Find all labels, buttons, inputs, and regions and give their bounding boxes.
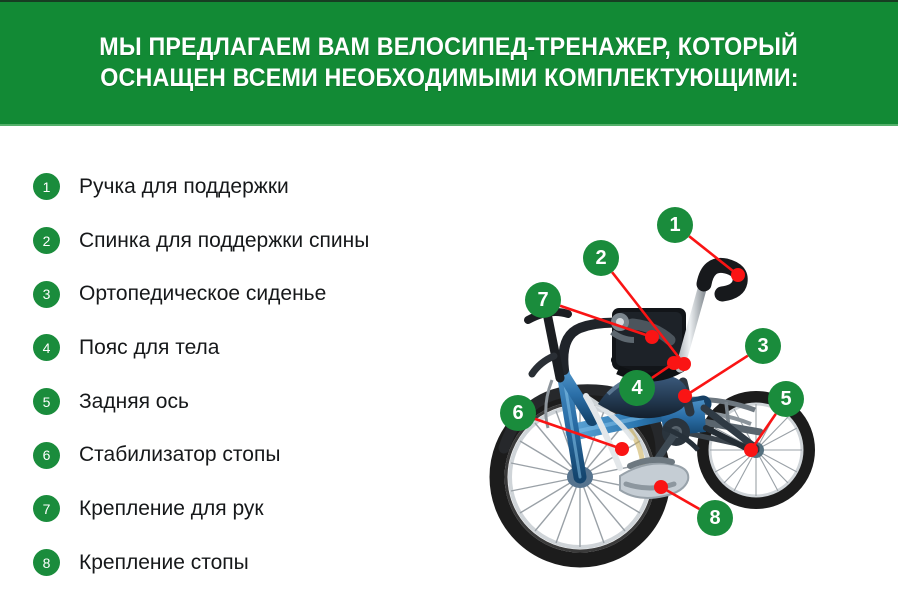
callout-badge-4[interactable]: 4 <box>619 370 655 406</box>
callout-badge-5[interactable]: 5 <box>768 381 804 417</box>
callout-badge-6[interactable]: 6 <box>500 395 536 431</box>
list-item-number-badge: 1 <box>33 173 60 200</box>
list-item: 2 Спинка для поддержки спины <box>33 214 463 268</box>
list-item-number-badge: 7 <box>33 495 60 522</box>
callout-badge-1[interactable]: 1 <box>657 207 693 243</box>
list-item-number-badge: 4 <box>33 334 60 361</box>
list-item-number-badge: 6 <box>33 442 60 469</box>
support-handle <box>680 265 740 368</box>
list-item-label: Ручка для поддержки <box>79 175 289 199</box>
header-banner: МЫ ПРЕДЛАГАЕМ ВАМ ВЕЛОСИПЕД-ТРЕНАЖЕР, КО… <box>0 0 898 126</box>
bicycle-illustration: 12345678 <box>468 132 898 612</box>
list-item: 8 Крепление стопы <box>33 536 463 590</box>
list-item-number-badge: 3 <box>33 281 60 308</box>
list-item: 1 Ручка для поддержки <box>33 160 463 214</box>
list-item-label: Пояс для тела <box>79 336 220 360</box>
list-item: 3 Ортопедическое сиденье <box>33 267 463 321</box>
adaptive-tricycle-image <box>468 132 898 612</box>
feature-list: 1 Ручка для поддержки 2 Спинка для подде… <box>33 160 463 590</box>
list-item-label: Крепление для рук <box>79 497 264 521</box>
list-item-label: Стабилизатор стопы <box>79 443 280 467</box>
list-item-label: Крепление стопы <box>79 551 249 575</box>
list-item-number-badge: 5 <box>33 388 60 415</box>
header-title-line-1: МЫ ПРЕДЛАГАЕМ ВАМ ВЕЛОСИПЕД-ТРЕНАЖЕР, КО… <box>100 32 799 63</box>
callout-badge-3[interactable]: 3 <box>745 328 781 364</box>
list-item: 6 Стабилизатор стопы <box>33 428 463 482</box>
callout-badge-2[interactable]: 2 <box>583 240 619 276</box>
slide-root: МЫ ПРЕДЛАГАЕМ ВАМ ВЕЛОСИПЕД-ТРЕНАЖЕР, КО… <box>0 0 898 612</box>
header-title-line-2: ОСНАЩЕН ВСЕМИ НЕОБХОДИМЫМИ КОМПЛЕКТУЮЩИМ… <box>100 63 798 94</box>
list-item-label: Задняя ось <box>79 390 189 414</box>
callout-badge-7[interactable]: 7 <box>525 282 561 318</box>
list-item-label: Спинка для поддержки спины <box>79 229 369 253</box>
list-item: 4 Пояс для тела <box>33 321 463 375</box>
list-item-number-badge: 8 <box>33 549 60 576</box>
callout-badge-8[interactable]: 8 <box>697 500 733 536</box>
list-item: 5 Задняя ось <box>33 375 463 429</box>
list-item-number-badge: 2 <box>33 227 60 254</box>
list-item-label: Ортопедическое сиденье <box>79 282 326 306</box>
list-item: 7 Крепление для рук <box>33 482 463 536</box>
